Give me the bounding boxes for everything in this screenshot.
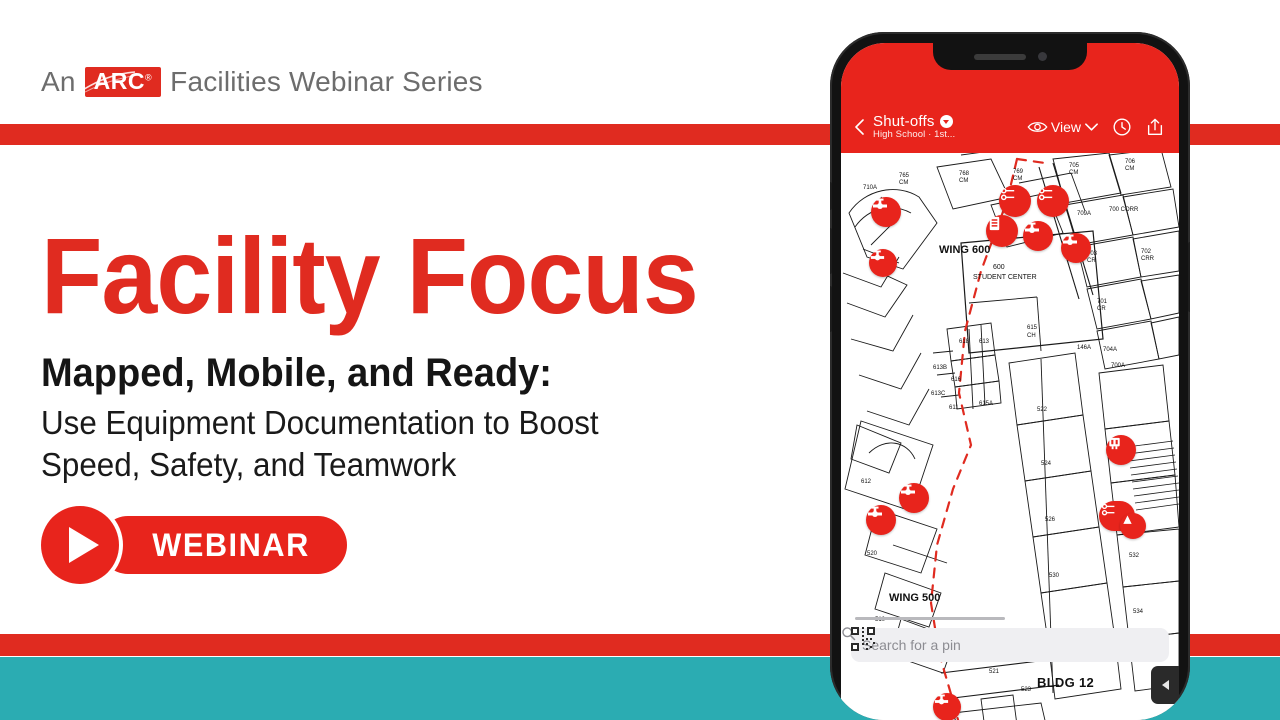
water-valve-icon bbox=[869, 249, 886, 266]
webinar-pill: WEBINAR bbox=[99, 516, 347, 574]
svg-text:CM: CM bbox=[959, 178, 968, 184]
water-valve-icon bbox=[899, 483, 917, 501]
webinar-label: WEBINAR bbox=[152, 527, 310, 564]
chevron-left-icon[interactable] bbox=[851, 118, 869, 136]
play-button[interactable] bbox=[41, 506, 119, 584]
gas-shutoff-icon bbox=[999, 185, 1018, 204]
view-toggle[interactable]: View bbox=[1027, 119, 1099, 135]
gas-shutoff-icon bbox=[1037, 185, 1056, 204]
svg-text:709A: 709A bbox=[1077, 211, 1091, 217]
electrical-panel-icon bbox=[1106, 435, 1123, 452]
brand-header: An ARC® Facilities Webinar Series bbox=[41, 66, 483, 98]
earpiece-speaker bbox=[974, 54, 1026, 60]
chevron-down-badge-icon[interactable] bbox=[940, 115, 953, 128]
pin-water-valve-7[interactable] bbox=[933, 693, 961, 720]
eye-icon bbox=[1027, 119, 1048, 135]
pin-gas-shutoff-1[interactable] bbox=[999, 185, 1031, 217]
phone-mute-switch bbox=[830, 182, 832, 210]
svg-text:616: 616 bbox=[951, 377, 962, 383]
pin-water-valve-4[interactable] bbox=[1061, 233, 1091, 263]
svg-text:612: 612 bbox=[861, 479, 872, 485]
svg-text:702: 702 bbox=[1141, 249, 1152, 255]
subtitle-headline: Mapped, Mobile, and Ready: bbox=[41, 352, 552, 394]
svg-text:524: 524 bbox=[1041, 461, 1052, 467]
water-valve-icon bbox=[933, 693, 950, 710]
search-input[interactable]: Search for a pin bbox=[851, 628, 1169, 662]
svg-text:CRR: CRR bbox=[1141, 256, 1155, 262]
pin-water-valve-5[interactable] bbox=[866, 505, 896, 535]
svg-text:534: 534 bbox=[1133, 609, 1144, 615]
qr-code-icon[interactable] bbox=[850, 626, 876, 652]
arc-logo: ARC® bbox=[85, 67, 161, 96]
svg-text:CR: CR bbox=[1087, 258, 1096, 264]
svg-text:768: 768 bbox=[959, 171, 970, 177]
phone-volume-up-button bbox=[830, 228, 832, 274]
pin-fire-valve-1[interactable] bbox=[1120, 513, 1146, 539]
drawer-toggle-tab[interactable] bbox=[1151, 666, 1179, 704]
building-label: BLDG 12 bbox=[1037, 675, 1094, 690]
search-row: Search for a pin bbox=[841, 626, 1179, 664]
water-valve-icon bbox=[866, 505, 884, 523]
page-title: Facility Focus bbox=[41, 222, 698, 330]
electrical-panel-icon bbox=[986, 215, 1003, 232]
search-placeholder: Search for a pin bbox=[862, 637, 961, 653]
water-valve-icon bbox=[871, 197, 889, 215]
phone-volume-down-button bbox=[830, 286, 832, 332]
svg-text:705: 705 bbox=[1069, 163, 1080, 169]
svg-text:521: 521 bbox=[989, 669, 1000, 675]
svg-text:STUDENT CENTER: STUDENT CENTER bbox=[973, 274, 1037, 281]
phone-power-button bbox=[1188, 242, 1190, 312]
water-valve-icon bbox=[1023, 221, 1041, 239]
pin-gas-shutoff-2[interactable] bbox=[1037, 185, 1069, 217]
svg-text:532: 532 bbox=[1129, 553, 1140, 559]
subtitle-line-1: Use Equipment Documentation to Boost bbox=[41, 402, 599, 444]
subtitle-line-2: Speed, Safety, and Teamwork bbox=[41, 444, 599, 486]
svg-text:618: 618 bbox=[959, 339, 970, 345]
chevron-left-icon bbox=[1162, 680, 1169, 690]
share-export-icon[interactable] bbox=[1145, 117, 1165, 137]
svg-text:CR: CR bbox=[1097, 306, 1106, 312]
svg-text:701: 701 bbox=[1097, 299, 1108, 305]
clock-rotate-icon[interactable] bbox=[1112, 117, 1132, 137]
floor-plan-map[interactable]: 710A 765 CM 768 CM 769 CM 705 CM 706 CM … bbox=[841, 153, 1179, 720]
gas-shutoff-icon bbox=[1099, 501, 1119, 519]
svg-text:765: 765 bbox=[899, 173, 910, 179]
svg-text:769: 769 bbox=[1013, 169, 1024, 175]
phone-screen: Shut-offs High School · 1st... View bbox=[841, 43, 1179, 720]
svg-text:611: 611 bbox=[949, 405, 959, 411]
chevron-down-icon[interactable] bbox=[1084, 121, 1099, 133]
slide-canvas: An ARC® Facilities Webinar Series Facili… bbox=[0, 0, 1280, 720]
app-header-actions: View bbox=[1027, 117, 1169, 137]
app-header-row: Shut-offs High School · 1st... View bbox=[841, 105, 1179, 149]
pin-electrical-panel-2[interactable] bbox=[1106, 435, 1136, 465]
pin-electrical-panel-1[interactable] bbox=[986, 215, 1018, 247]
svg-text:613C: 613C bbox=[931, 391, 946, 397]
phone-mockup: Shut-offs High School · 1st... View bbox=[830, 32, 1190, 720]
svg-text:615A: 615A bbox=[979, 401, 993, 407]
map-horizontal-scrollbar[interactable] bbox=[855, 617, 1005, 620]
svg-text:530: 530 bbox=[1049, 573, 1060, 579]
svg-text:600: 600 bbox=[993, 264, 1005, 271]
brand-prefix: An bbox=[41, 66, 76, 98]
pin-water-valve-3[interactable] bbox=[1023, 221, 1053, 251]
app-title-block: Shut-offs High School · 1st... bbox=[873, 114, 955, 141]
phone-notch bbox=[933, 43, 1087, 70]
fire-valve-icon bbox=[1120, 513, 1135, 528]
svg-text:522: 522 bbox=[1037, 407, 1048, 413]
svg-text:700 CORR: 700 CORR bbox=[1109, 207, 1139, 213]
svg-text:CM: CM bbox=[1013, 176, 1022, 182]
svg-text:CM: CM bbox=[1125, 166, 1134, 172]
svg-text:706: 706 bbox=[1125, 159, 1136, 165]
arc-logo-text: ARC bbox=[94, 68, 145, 94]
front-camera bbox=[1038, 52, 1047, 61]
app-subtitle: High School · 1st... bbox=[873, 130, 955, 140]
app-title-row: Shut-offs bbox=[873, 114, 955, 130]
svg-text:CM: CM bbox=[899, 180, 908, 186]
pin-water-valve-6[interactable] bbox=[899, 483, 929, 513]
pin-water-valve-1[interactable] bbox=[871, 197, 901, 227]
play-triangle-icon bbox=[69, 527, 99, 563]
webinar-badge[interactable]: WEBINAR bbox=[41, 506, 347, 584]
svg-text:CH: CH bbox=[1027, 333, 1036, 339]
svg-text:CM: CM bbox=[1069, 170, 1078, 176]
svg-text:520: 520 bbox=[867, 551, 878, 557]
water-valve-icon bbox=[1061, 233, 1079, 251]
view-label: View bbox=[1051, 119, 1081, 135]
brand-suffix: Facilities Webinar Series bbox=[170, 66, 483, 98]
pin-water-valve-2[interactable] bbox=[869, 249, 897, 277]
svg-text:704A: 704A bbox=[1103, 347, 1117, 353]
svg-text:613: 613 bbox=[979, 339, 990, 345]
svg-text:615: 615 bbox=[1027, 325, 1038, 331]
svg-text:526: 526 bbox=[1045, 517, 1056, 523]
svg-text:146A: 146A bbox=[1077, 345, 1091, 351]
app-title: Shut-offs bbox=[873, 114, 935, 130]
svg-text:613B: 613B bbox=[933, 365, 947, 371]
svg-text:710A: 710A bbox=[863, 185, 877, 191]
wing-600-label: WING 600 bbox=[939, 244, 990, 256]
svg-text:523: 523 bbox=[1021, 687, 1032, 693]
arc-logo-registered: ® bbox=[145, 73, 152, 83]
wing-500-label: WING 500 bbox=[889, 592, 940, 604]
subtitle-body: Use Equipment Documentation to Boost Spe… bbox=[41, 402, 599, 486]
svg-text:700A: 700A bbox=[1111, 363, 1125, 369]
